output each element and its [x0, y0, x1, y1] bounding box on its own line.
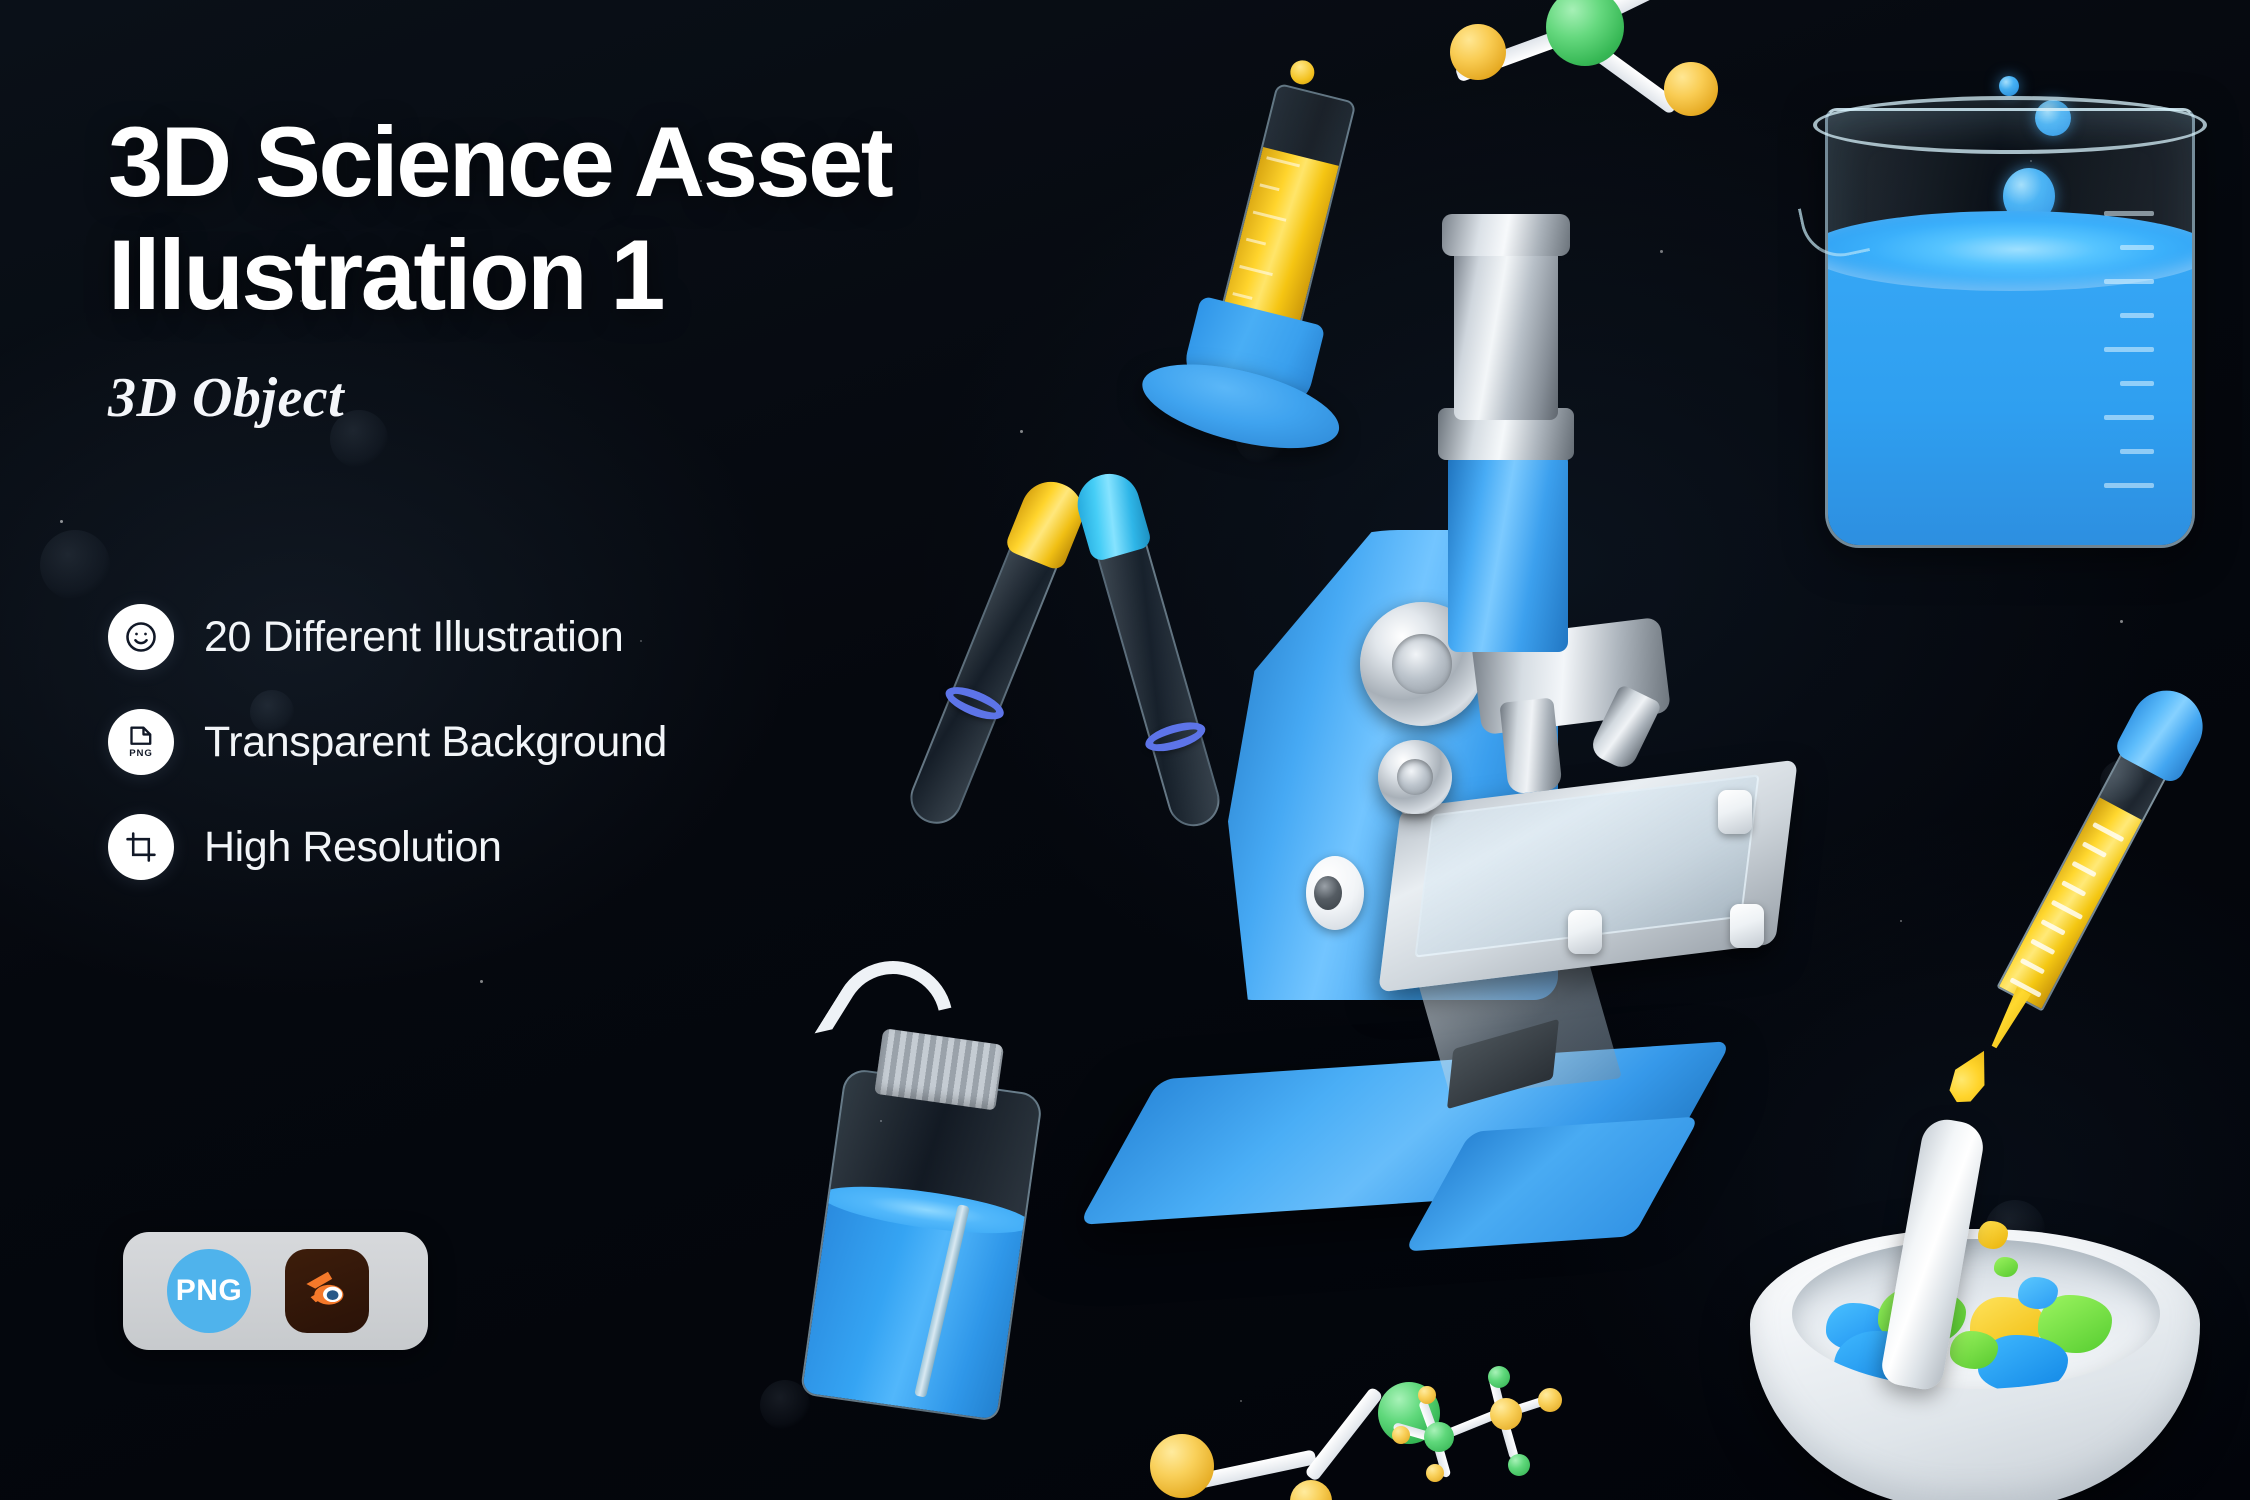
microscope-stage-clip: [1718, 790, 1752, 834]
header-copy: 3D Science Asset Illustration 1 3D Objec…: [108, 106, 1108, 430]
page-title: 3D Science Asset Illustration 1: [108, 106, 1108, 332]
crystal: [1994, 1257, 2018, 1277]
molecule-top: [1450, 0, 1770, 140]
beaker-glass: [1825, 108, 2195, 548]
page-title-line-2: Illustration 1: [108, 219, 1108, 332]
wash-bottle-body: [800, 1067, 1044, 1422]
microscope-stage-clip: [1730, 904, 1764, 948]
microscope-tube: [1448, 452, 1568, 652]
wash-bottle-object: [761, 967, 1108, 1433]
smiley-face-icon: [108, 604, 174, 670]
feature-item-illustrations: 20 Different Illustration: [108, 600, 667, 674]
atom-yellow: [1290, 1480, 1332, 1500]
atom-yellow: [1538, 1388, 1562, 1412]
atom-green: [1424, 1422, 1454, 1452]
atom-yellow: [1664, 62, 1718, 116]
crop-icon: [108, 814, 174, 880]
pipette-object: [1910, 669, 2250, 1130]
microscope-stage-clip: [1568, 910, 1602, 954]
beaker-rim: [1813, 96, 2207, 154]
blender-logo-icon: [285, 1249, 369, 1333]
page-subtitle: 3D Object: [108, 366, 1108, 430]
atom-yellow: [1490, 1398, 1522, 1430]
atom-green: [1488, 1366, 1510, 1388]
molecule-bottom-right: [1390, 1372, 1580, 1492]
atom-yellow: [1450, 24, 1506, 80]
pipette-tube: [1996, 740, 2173, 1012]
atom-green: [1508, 1454, 1530, 1476]
feature-label: 20 Different Illustration: [204, 613, 623, 662]
format-badge-panel: PNG: [123, 1232, 428, 1350]
page-title-line-1: 3D Science Asset: [108, 106, 891, 217]
cylinder-bead: [1288, 58, 1317, 87]
atom-yellow: [1392, 1426, 1410, 1444]
beaker-liquid: [1828, 245, 2192, 545]
atom-yellow: [1418, 1386, 1436, 1404]
microscope-eyepiece: [1454, 230, 1558, 420]
atom-yellow: [1426, 1464, 1444, 1482]
png-chip-label: PNG: [176, 1274, 243, 1308]
microscope-objective-lens: [1499, 697, 1562, 794]
feature-item-transparent-bg: PNG Transparent Background: [108, 705, 667, 779]
microscope-fine-focus-knob[interactable]: [1378, 740, 1452, 814]
feature-label: High Resolution: [204, 823, 502, 872]
pipette-droplet: [1936, 1040, 2004, 1113]
beaker-object: [1795, 80, 2225, 560]
png-format-chip: PNG: [167, 1249, 251, 1333]
microscope-eye-decoration: [1306, 856, 1364, 930]
wash-bottle-liquid: [802, 1194, 1024, 1419]
water-droplet: [1999, 76, 2019, 96]
pipette-liquid: [1999, 797, 2142, 1008]
atom-yellow: [1150, 1434, 1214, 1498]
svg-text:PNG: PNG: [129, 748, 153, 759]
feature-label: Transparent Background: [204, 718, 667, 767]
test-tubes-object: [955, 500, 1295, 880]
feature-list: 20 Different Illustration PNG Transparen…: [108, 600, 667, 915]
mortar-bowl-interior: [1792, 1239, 2160, 1389]
mortar-pestle-object: [1740, 1135, 2210, 1500]
microscope-eyecup: [1442, 214, 1570, 256]
png-file-icon: PNG: [108, 709, 174, 775]
feature-item-high-resolution: High Resolution: [108, 810, 667, 884]
illustration-canvas: 3D Science Asset Illustration 1 3D Objec…: [0, 0, 2250, 1500]
